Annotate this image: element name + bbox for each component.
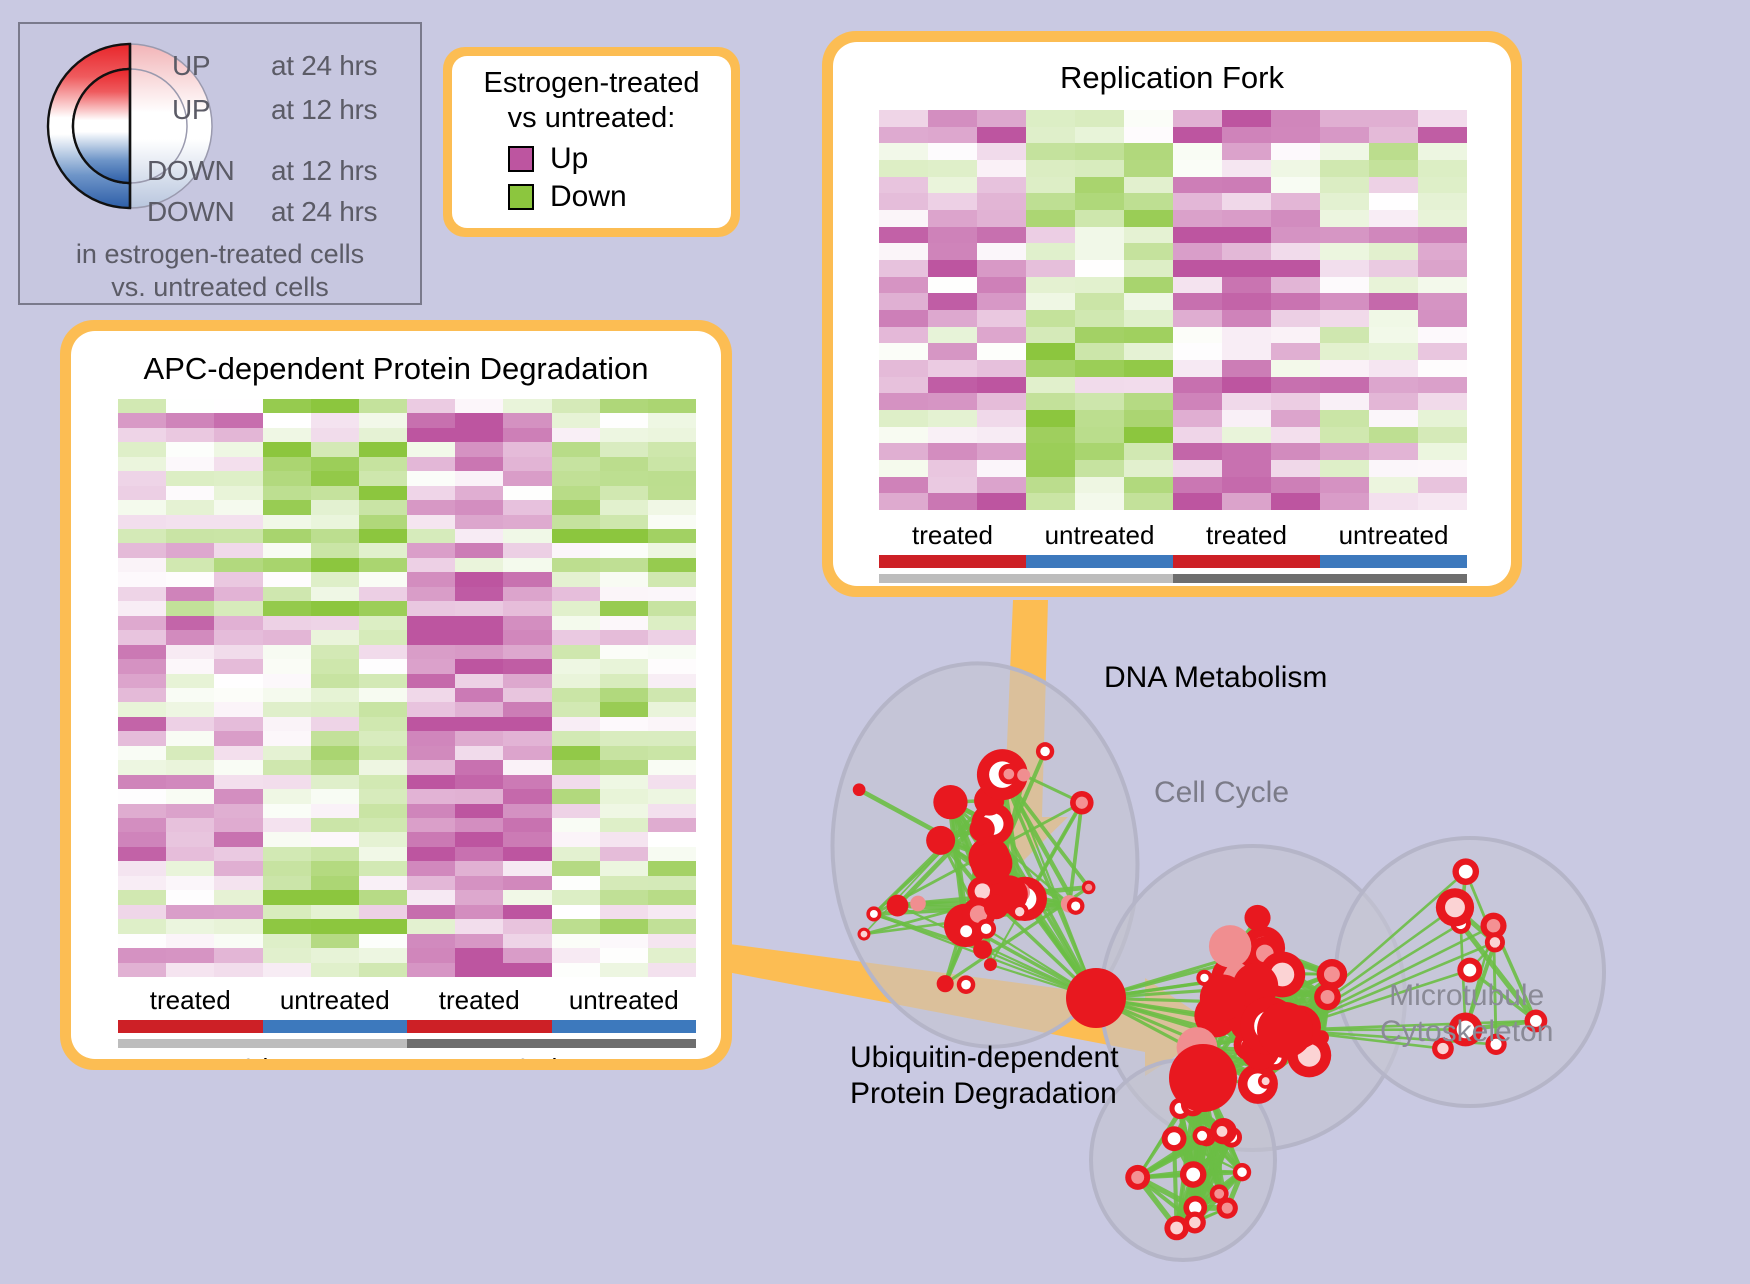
- heatmap-cell: [648, 760, 696, 774]
- heatmap-cell: [1124, 227, 1173, 244]
- heatmap-cell: [166, 601, 214, 615]
- heatmap-cell: [1271, 493, 1320, 510]
- heatmap-cell: [407, 890, 455, 904]
- heatmap-cell: [1124, 427, 1173, 444]
- heatmap-cell: [648, 543, 696, 557]
- heatmap-cell: [407, 457, 455, 471]
- heatmap-cell: [1124, 260, 1173, 277]
- heatmap-cell: [214, 558, 262, 572]
- heatmap-cell: [166, 500, 214, 514]
- heatmap-cell: [1222, 110, 1271, 127]
- heatmap-cell: [1124, 160, 1173, 177]
- heatmap-cell: [1026, 143, 1075, 160]
- heatmap-cell: [879, 160, 928, 177]
- node-dna-metabolism-core: [861, 931, 868, 938]
- heatmap-cell: [600, 746, 648, 760]
- heatmap-cell: [407, 775, 455, 789]
- heatmap-cell: [455, 948, 503, 962]
- heatmap-cell: [1271, 260, 1320, 277]
- legend-swatch-up-icon: [508, 146, 534, 172]
- heatmap-cell: [359, 659, 407, 673]
- heatmap-cell: [879, 360, 928, 377]
- heatmap-cell: [879, 227, 928, 244]
- heatmap-cell: [503, 515, 551, 529]
- heatmap-cell: [359, 905, 407, 919]
- heatmap-cell: [166, 876, 214, 890]
- heatmap-cell: [1369, 260, 1418, 277]
- heatmap-cell: [503, 616, 551, 630]
- heatmap-cell: [311, 818, 359, 832]
- figure-canvas: UP at 24 hrs UP at 12 hrs DOWN at 12 hrs…: [0, 0, 1750, 1279]
- heatmap-cell: [407, 558, 455, 572]
- key-label-down-12: DOWN: [147, 155, 234, 187]
- heatmap-cell: [359, 948, 407, 962]
- heatmap-cell: [552, 500, 600, 514]
- heatmap-cell: [1369, 143, 1418, 160]
- heatmap-cell: [600, 789, 648, 803]
- heatmap-cell: [166, 645, 214, 659]
- heatmap-cell: [359, 399, 407, 413]
- heatmap-cell: [118, 500, 166, 514]
- heatmap-cell: [1320, 393, 1369, 410]
- heatmap-cell: [648, 659, 696, 673]
- heatmap-cell: [118, 919, 166, 933]
- heatmap-cell: [214, 963, 262, 977]
- heatmap-cell: [1369, 277, 1418, 294]
- heatmap-cell: [1320, 360, 1369, 377]
- heatmap-cell: [928, 110, 977, 127]
- heatmap-cell: [648, 413, 696, 427]
- heatmap-cell: [1418, 310, 1467, 327]
- heatmap-cell: [1124, 277, 1173, 294]
- heatmap-cell: [455, 674, 503, 688]
- heatmap-cell: [1222, 427, 1271, 444]
- heatmap-group-label: untreated: [263, 985, 408, 1016]
- heatmap-cell: [928, 193, 977, 210]
- node-dna-metabolism: [853, 783, 866, 796]
- node-dna-metabolism-core: [1071, 901, 1080, 910]
- heatmap-cell: [503, 731, 551, 745]
- heatmap-cell: [879, 343, 928, 360]
- heatmap-cell: [1173, 110, 1222, 127]
- functional-module-network: DNA Metabolism Cell Cycle Microtubule Cy…: [780, 600, 1750, 1279]
- heatmap-cell: [648, 890, 696, 904]
- heatmap-cell: [359, 558, 407, 572]
- heatmap-cell: [1222, 293, 1271, 310]
- heatmap-cell: [263, 399, 311, 413]
- heatmap-cell: [1173, 143, 1222, 160]
- heatmap-cell: [552, 731, 600, 745]
- heatmap-cell: [1173, 393, 1222, 410]
- heatmap-cell: [879, 193, 928, 210]
- heatmap-cell: [1124, 243, 1173, 260]
- heatmap-cell: [552, 818, 600, 832]
- network-label-ubiquitin-degradation: Ubiquitin-dependent Protein Degradation: [850, 1040, 1119, 1112]
- heatmap-cell: [166, 818, 214, 832]
- heatmap-cell: [600, 804, 648, 818]
- heatmap-cell: [359, 876, 407, 890]
- heatmap-cell: [552, 630, 600, 644]
- heatmap-cell: [311, 934, 359, 948]
- heatmap-cell: [552, 775, 600, 789]
- heatmap-cell: [928, 127, 977, 144]
- heatmap-cell: [1222, 260, 1271, 277]
- heatmap-cell: [359, 587, 407, 601]
- heatmap-cell: [879, 427, 928, 444]
- heatmap-cell: [1418, 260, 1467, 277]
- heatmap-cell: [1369, 210, 1418, 227]
- heatmap-cell: [928, 227, 977, 244]
- node-ubiquitin-core: [1214, 1189, 1224, 1199]
- heatmap-cell: [455, 760, 503, 774]
- heatmap-grid-apc: [118, 399, 696, 977]
- heatmap-cell: [648, 645, 696, 659]
- heatmap-cell: [214, 630, 262, 644]
- heatmap-cell: [359, 428, 407, 442]
- heatmap-cell: [166, 587, 214, 601]
- heatmap-cell: [118, 558, 166, 572]
- heatmap-cell: [118, 702, 166, 716]
- heatmap-cell: [1075, 377, 1124, 394]
- heatmap-cell: [648, 486, 696, 500]
- heatmap-cell: [1418, 393, 1467, 410]
- heatmap-cell: [407, 717, 455, 731]
- heatmap-cell: [407, 688, 455, 702]
- heatmap-cell: [311, 659, 359, 673]
- heatmap-cell: [1173, 210, 1222, 227]
- heatmap-cell: [1075, 293, 1124, 310]
- group-color-segment: [1173, 555, 1320, 568]
- heatmap-cell: [311, 832, 359, 846]
- heatmap-cell: [1222, 477, 1271, 494]
- heatmap-cell: [311, 948, 359, 962]
- heatmap-cell: [1075, 443, 1124, 460]
- heatmap-cell: [648, 876, 696, 890]
- heatmap-cell: [263, 674, 311, 688]
- heatmap-cell: [977, 443, 1026, 460]
- heatmap-cell: [503, 948, 551, 962]
- heatmap-cell: [1418, 210, 1467, 227]
- heatmap-cell: [214, 847, 262, 861]
- heatmap-cell: [648, 558, 696, 572]
- heatmap-cell: [118, 674, 166, 688]
- heatmap-cell: [118, 832, 166, 846]
- heatmap-cell: [214, 760, 262, 774]
- node-ubiquitin-core: [1170, 1222, 1183, 1235]
- heatmap-cell: [1369, 227, 1418, 244]
- heatmap-cell: [455, 905, 503, 919]
- heatmap-cell: [1418, 443, 1467, 460]
- heatmap-cell: [879, 377, 928, 394]
- heatmap-cell: [1369, 127, 1418, 144]
- node-dna-metabolism: [910, 896, 926, 912]
- heatmap-cell: [455, 500, 503, 514]
- heatmap-cell: [600, 413, 648, 427]
- heatmap-cell: [263, 529, 311, 543]
- heatmap-cell: [118, 876, 166, 890]
- heatmap-cell: [552, 702, 600, 716]
- heatmap-cell: [455, 587, 503, 601]
- heatmap-cell: [1075, 277, 1124, 294]
- replication-fork-inner: Replication Fork treateduntreatedtreated…: [833, 42, 1511, 586]
- heatmap-cell: [311, 486, 359, 500]
- heatmap-cell: [263, 486, 311, 500]
- heatmap-cell: [455, 789, 503, 803]
- heatmap-cell: [263, 890, 311, 904]
- heatmap-cell: [359, 457, 407, 471]
- heatmap-cell: [311, 515, 359, 529]
- heatmap-cell: [166, 399, 214, 413]
- group-color-segment: [118, 1020, 263, 1033]
- heatmap-cell: [166, 457, 214, 471]
- heatmap-cell: [600, 500, 648, 514]
- heatmap-cell: [263, 702, 311, 716]
- heatmap-cell: [311, 529, 359, 543]
- heatmap-cell: [311, 500, 359, 514]
- heatmap-cell: [977, 193, 1026, 210]
- heatmap-cell: [166, 413, 214, 427]
- heatmap-cell: [648, 934, 696, 948]
- heatmap-cell: [552, 688, 600, 702]
- heatmap-cell: [1124, 327, 1173, 344]
- timepoint-color-segment: [1173, 574, 1467, 583]
- heatmap-cell: [1418, 193, 1467, 210]
- heatmap-cell: [977, 260, 1026, 277]
- heatmap-group-label: treated: [118, 985, 263, 1016]
- heatmap-cell: [648, 702, 696, 716]
- heatmap-cell: [552, 760, 600, 774]
- heatmap-cell: [1222, 210, 1271, 227]
- heatmap-cell: [1075, 243, 1124, 260]
- heatmap-cell: [648, 746, 696, 760]
- heatmap-cell: [1173, 310, 1222, 327]
- key-time-down-24: at 24 hrs: [271, 196, 377, 228]
- heatmap-cell: [600, 457, 648, 471]
- heatmap-cell: [1026, 410, 1075, 427]
- heatmap-cell: [359, 746, 407, 760]
- heatmap-cell: [214, 731, 262, 745]
- heatmap-cell: [977, 360, 1026, 377]
- heatmap-cell: [118, 486, 166, 500]
- heatmap-cell: [928, 460, 977, 477]
- heatmap-cell: [1369, 477, 1418, 494]
- heatmap-cell: [503, 905, 551, 919]
- heatmap-cell: [1026, 177, 1075, 194]
- heatmap-cell: [879, 410, 928, 427]
- heatmap-cell: [263, 746, 311, 760]
- heatmap-cell: [1124, 310, 1173, 327]
- heatmap-cell: [1222, 410, 1271, 427]
- heatmap-cell: [407, 515, 455, 529]
- heatmap-cell: [311, 457, 359, 471]
- heatmap-cell: [214, 572, 262, 586]
- heatmap-cell: [928, 377, 977, 394]
- heatmap-cell: [552, 847, 600, 861]
- heatmap-cell: [1418, 460, 1467, 477]
- heatmap-cell: [407, 399, 455, 413]
- heatmap-cell: [1173, 477, 1222, 494]
- heatmap-cell: [977, 160, 1026, 177]
- heatmap-cell: [552, 471, 600, 485]
- heatmap-cell: [214, 789, 262, 803]
- heatmap-cell: [407, 616, 455, 630]
- heatmap-cell: [1173, 227, 1222, 244]
- heatmap-cell: [503, 500, 551, 514]
- heatmap-cell: [1320, 177, 1369, 194]
- heatmap-cell: [1222, 393, 1271, 410]
- heatmap-cell: [552, 413, 600, 427]
- heatmap-cell: [1222, 343, 1271, 360]
- timepoint-labels-apc: 12 hrs24 hrs: [118, 1053, 696, 1059]
- heatmap-cell: [503, 818, 551, 832]
- heatmap-cell: [1075, 393, 1124, 410]
- heatmap-cell: [359, 832, 407, 846]
- heatmap-cell: [359, 818, 407, 832]
- panel-apc-dependent-protein-degradation: APC-dependent Protein Degradation treate…: [60, 320, 732, 1070]
- heatmap-cell: [1173, 177, 1222, 194]
- heatmap-cell: [311, 731, 359, 745]
- heatmap-cell: [977, 393, 1026, 410]
- heatmap-cell: [166, 717, 214, 731]
- heatmap-cell: [263, 717, 311, 731]
- heatmap-cell: [503, 558, 551, 572]
- heatmap-cell: [311, 717, 359, 731]
- heatmap-cell: [214, 775, 262, 789]
- heatmap-cell: [311, 471, 359, 485]
- heatmap-cell: [1026, 443, 1075, 460]
- heatmap-cell: [928, 493, 977, 510]
- heatmap-cell: [1026, 427, 1075, 444]
- heatmap-cell: [214, 399, 262, 413]
- heatmap-cell: [1418, 160, 1467, 177]
- heatmap-cell: [552, 558, 600, 572]
- heatmap-cell: [1320, 160, 1369, 177]
- heatmap-cell: [166, 861, 214, 875]
- heatmap-cell: [600, 731, 648, 745]
- heatmap-cell: [359, 543, 407, 557]
- key-time-up-12: at 12 hrs: [271, 94, 377, 126]
- heatmap-cell: [359, 674, 407, 688]
- heatmap-cell: [1271, 160, 1320, 177]
- heatmap-cell: [1124, 443, 1173, 460]
- legend-title-line-2: vs untreated:: [452, 101, 731, 136]
- legend-swatch-down-icon: [508, 184, 534, 210]
- heatmap-cell: [1320, 143, 1369, 160]
- heatmap-cell: [1173, 443, 1222, 460]
- heatmap-cell: [1075, 193, 1124, 210]
- heatmap-cell: [1026, 160, 1075, 177]
- node-microtubule-core: [1463, 964, 1476, 977]
- heatmap-cell: [407, 934, 455, 948]
- node-dna-metabolism: [887, 895, 909, 917]
- legend-item-up: Up: [508, 142, 588, 176]
- heatmap-cell: [455, 645, 503, 659]
- heatmap-cell: [1173, 260, 1222, 277]
- legend-title-line-1: Estrogen-treated: [452, 66, 731, 101]
- heatmap-cell: [600, 717, 648, 731]
- heatmap-cell: [552, 457, 600, 471]
- heatmap-cell: [1075, 177, 1124, 194]
- heatmap-cell: [1320, 477, 1369, 494]
- heatmap-cell: [118, 948, 166, 962]
- heatmap-apc: [118, 399, 696, 977]
- node-dna-metabolism: [971, 843, 1013, 885]
- node-dna-metabolism: [973, 940, 992, 959]
- heatmap-cell: [1369, 443, 1418, 460]
- network-label-dna-metabolism: DNA Metabolism: [1104, 660, 1327, 696]
- heatmap-cell: [263, 515, 311, 529]
- heatmap-cell: [118, 818, 166, 832]
- heatmap-cell: [648, 616, 696, 630]
- heatmap-cell: [1075, 493, 1124, 510]
- heatmap-cell: [648, 500, 696, 514]
- network-graph: [780, 600, 1750, 1279]
- heatmap-cell: [503, 890, 551, 904]
- heatmap-cell: [600, 543, 648, 557]
- heatmap-cell: [648, 457, 696, 471]
- heatmap-cell: [648, 630, 696, 644]
- heatmap-cell: [648, 529, 696, 543]
- heatmap-cell: [214, 515, 262, 529]
- heatmap-cell: [214, 702, 262, 716]
- heatmap-cell: [166, 515, 214, 529]
- apc-panel-inner: APC-dependent Protein Degradation treate…: [71, 331, 721, 1059]
- heatmap-cell: [1418, 293, 1467, 310]
- heatmap-cell: [600, 832, 648, 846]
- heatmap-cell: [1320, 377, 1369, 394]
- heatmap-cell: [118, 760, 166, 774]
- heatmap-cell: [407, 731, 455, 745]
- group-color-segment: [552, 1020, 697, 1033]
- key-label-down-24: DOWN: [147, 196, 234, 228]
- heatmap-cell: [1075, 210, 1124, 227]
- heatmap-cell: [311, 688, 359, 702]
- heatmap-cell: [166, 428, 214, 442]
- key-label-up-24: UP: [172, 50, 210, 82]
- node-dna-metabolism-core: [975, 883, 991, 899]
- heatmap-cell: [1418, 360, 1467, 377]
- legend-label-down: Down: [550, 180, 627, 214]
- heatmap-cell: [600, 905, 648, 919]
- heatmap-cell: [214, 905, 262, 919]
- heatmap-cell: [118, 471, 166, 485]
- heatmap-cell: [1075, 143, 1124, 160]
- heatmap-cell: [263, 919, 311, 933]
- heatmap-cell: [359, 789, 407, 803]
- heatmap-cell: [263, 543, 311, 557]
- heatmap-cell: [503, 543, 551, 557]
- heatmap-cell: [1320, 427, 1369, 444]
- heatmap-cell: [1075, 327, 1124, 344]
- heatmap-cell: [1026, 127, 1075, 144]
- heatmap-cell: [407, 919, 455, 933]
- heatmap-cell: [455, 890, 503, 904]
- node-hub: [1066, 968, 1126, 1028]
- heatmap-cell: [311, 442, 359, 456]
- heatmap-cell: [648, 572, 696, 586]
- key-time-up-24: at 24 hrs: [271, 50, 377, 82]
- heatmap-cell: [977, 410, 1026, 427]
- heatmap-cell: [503, 630, 551, 644]
- heatmap-cell: [648, 471, 696, 485]
- node-ubiquitin-core: [1131, 1171, 1144, 1184]
- heatmap-cell: [407, 674, 455, 688]
- heatmap-cell: [311, 905, 359, 919]
- heatmap-cell: [503, 442, 551, 456]
- heatmap-cell: [1418, 177, 1467, 194]
- heatmap-cell: [1173, 360, 1222, 377]
- heatmap-cell: [977, 143, 1026, 160]
